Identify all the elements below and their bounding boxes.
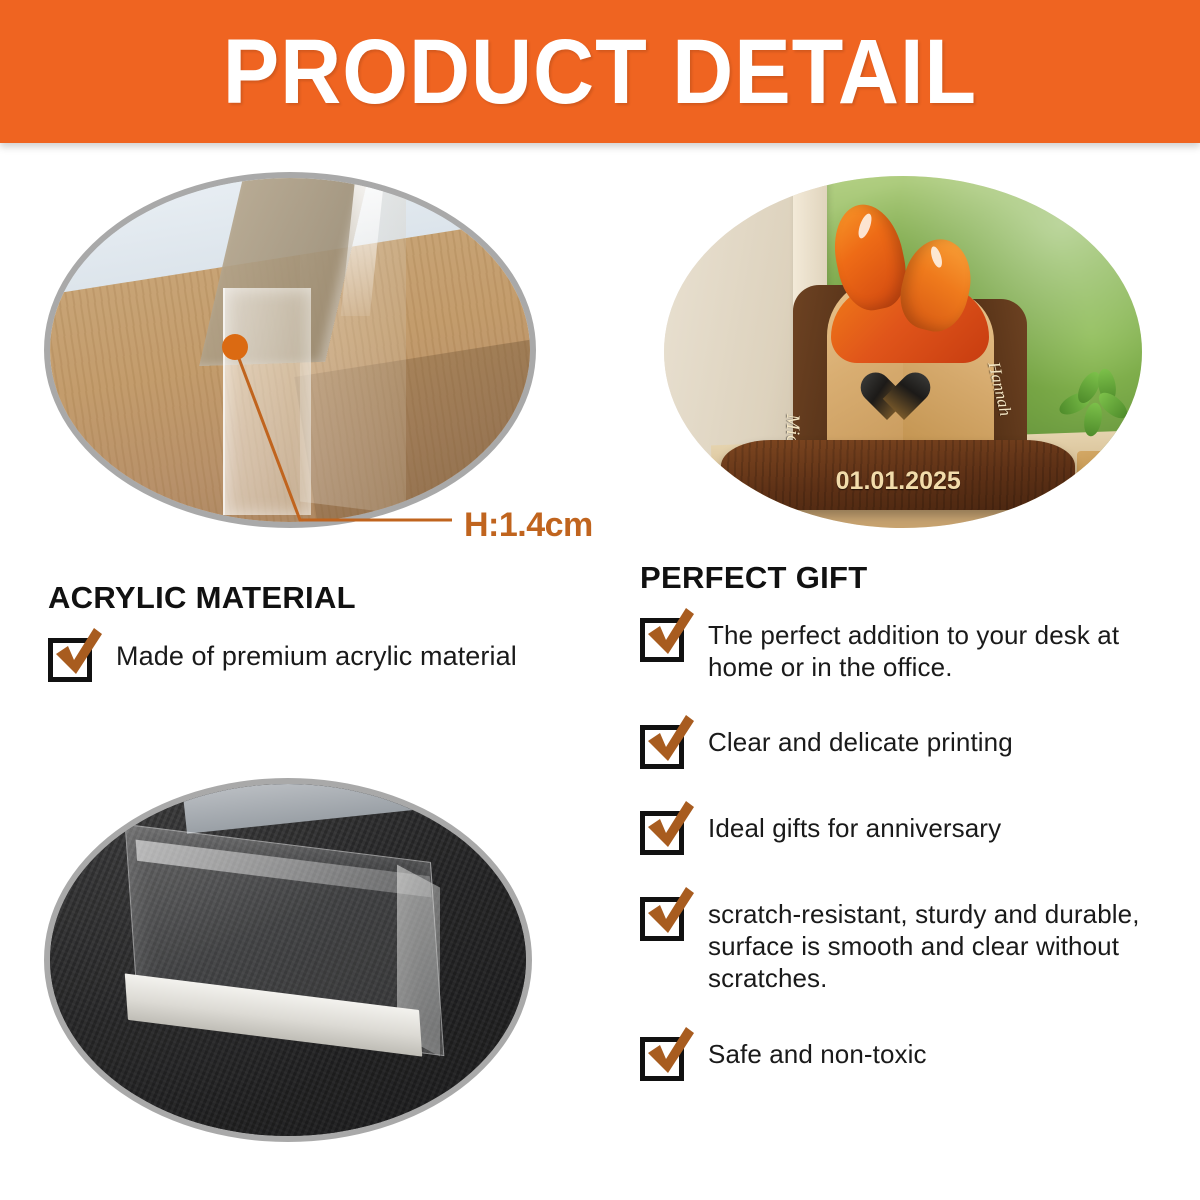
checkbox-checked-icon — [640, 1033, 688, 1081]
checkbox-checked-icon — [640, 721, 688, 769]
list-item: The perfect addition to your desk at hom… — [640, 612, 1170, 683]
perfect-gift-heading: PERFECT GIFT — [640, 560, 868, 596]
sculpture-wooden-base: 01.01.2025 — [721, 440, 1075, 510]
heart-inlay-icon — [874, 374, 930, 426]
header-banner: PRODUCT DETAIL — [0, 0, 1200, 143]
page-title: PRODUCT DETAIL — [223, 26, 977, 118]
list-item: Safe and non-toxic — [640, 1031, 1170, 1081]
list-item-label: Clear and delicate printing — [708, 719, 1013, 759]
callout-dot — [222, 334, 248, 360]
acrylic-front-face — [223, 288, 311, 515]
acrylic-material-list: Made of premium acrylic material — [48, 632, 608, 708]
checkbox-checked-icon — [640, 614, 688, 662]
list-item: Clear and delicate printing — [640, 719, 1170, 769]
engraved-date: 01.01.2025 — [721, 467, 1075, 496]
list-item: Made of premium acrylic material — [48, 632, 608, 682]
height-callout-label: H:1.4cm — [464, 506, 593, 545]
sculpture-photo: Michael Hannah 01.01.2025 — [664, 176, 1142, 528]
potted-plant-leaves — [1056, 373, 1132, 451]
acrylic-material-heading: ACRYLIC MATERIAL — [48, 580, 356, 616]
acrylic-block-photo — [44, 778, 532, 1142]
list-item-label: The perfect addition to your desk at hom… — [708, 612, 1170, 683]
checkbox-checked-icon — [640, 893, 688, 941]
checkbox-checked-icon — [48, 634, 96, 682]
list-item: scratch-resistant, sturdy and durable, s… — [640, 891, 1170, 994]
list-item-label: Ideal gifts for anniversary — [708, 805, 1001, 845]
perfect-gift-list: The perfect addition to your desk at hom… — [640, 612, 1170, 1117]
list-item-label: scratch-resistant, sturdy and durable, s… — [708, 891, 1170, 994]
list-item: Ideal gifts for anniversary — [640, 805, 1170, 855]
checkbox-checked-icon — [640, 807, 688, 855]
list-item-label: Safe and non-toxic — [708, 1031, 927, 1071]
list-item-label: Made of premium acrylic material — [116, 632, 517, 673]
potted-plant-pot — [1077, 451, 1123, 493]
acrylic-edge-photo — [44, 172, 536, 528]
